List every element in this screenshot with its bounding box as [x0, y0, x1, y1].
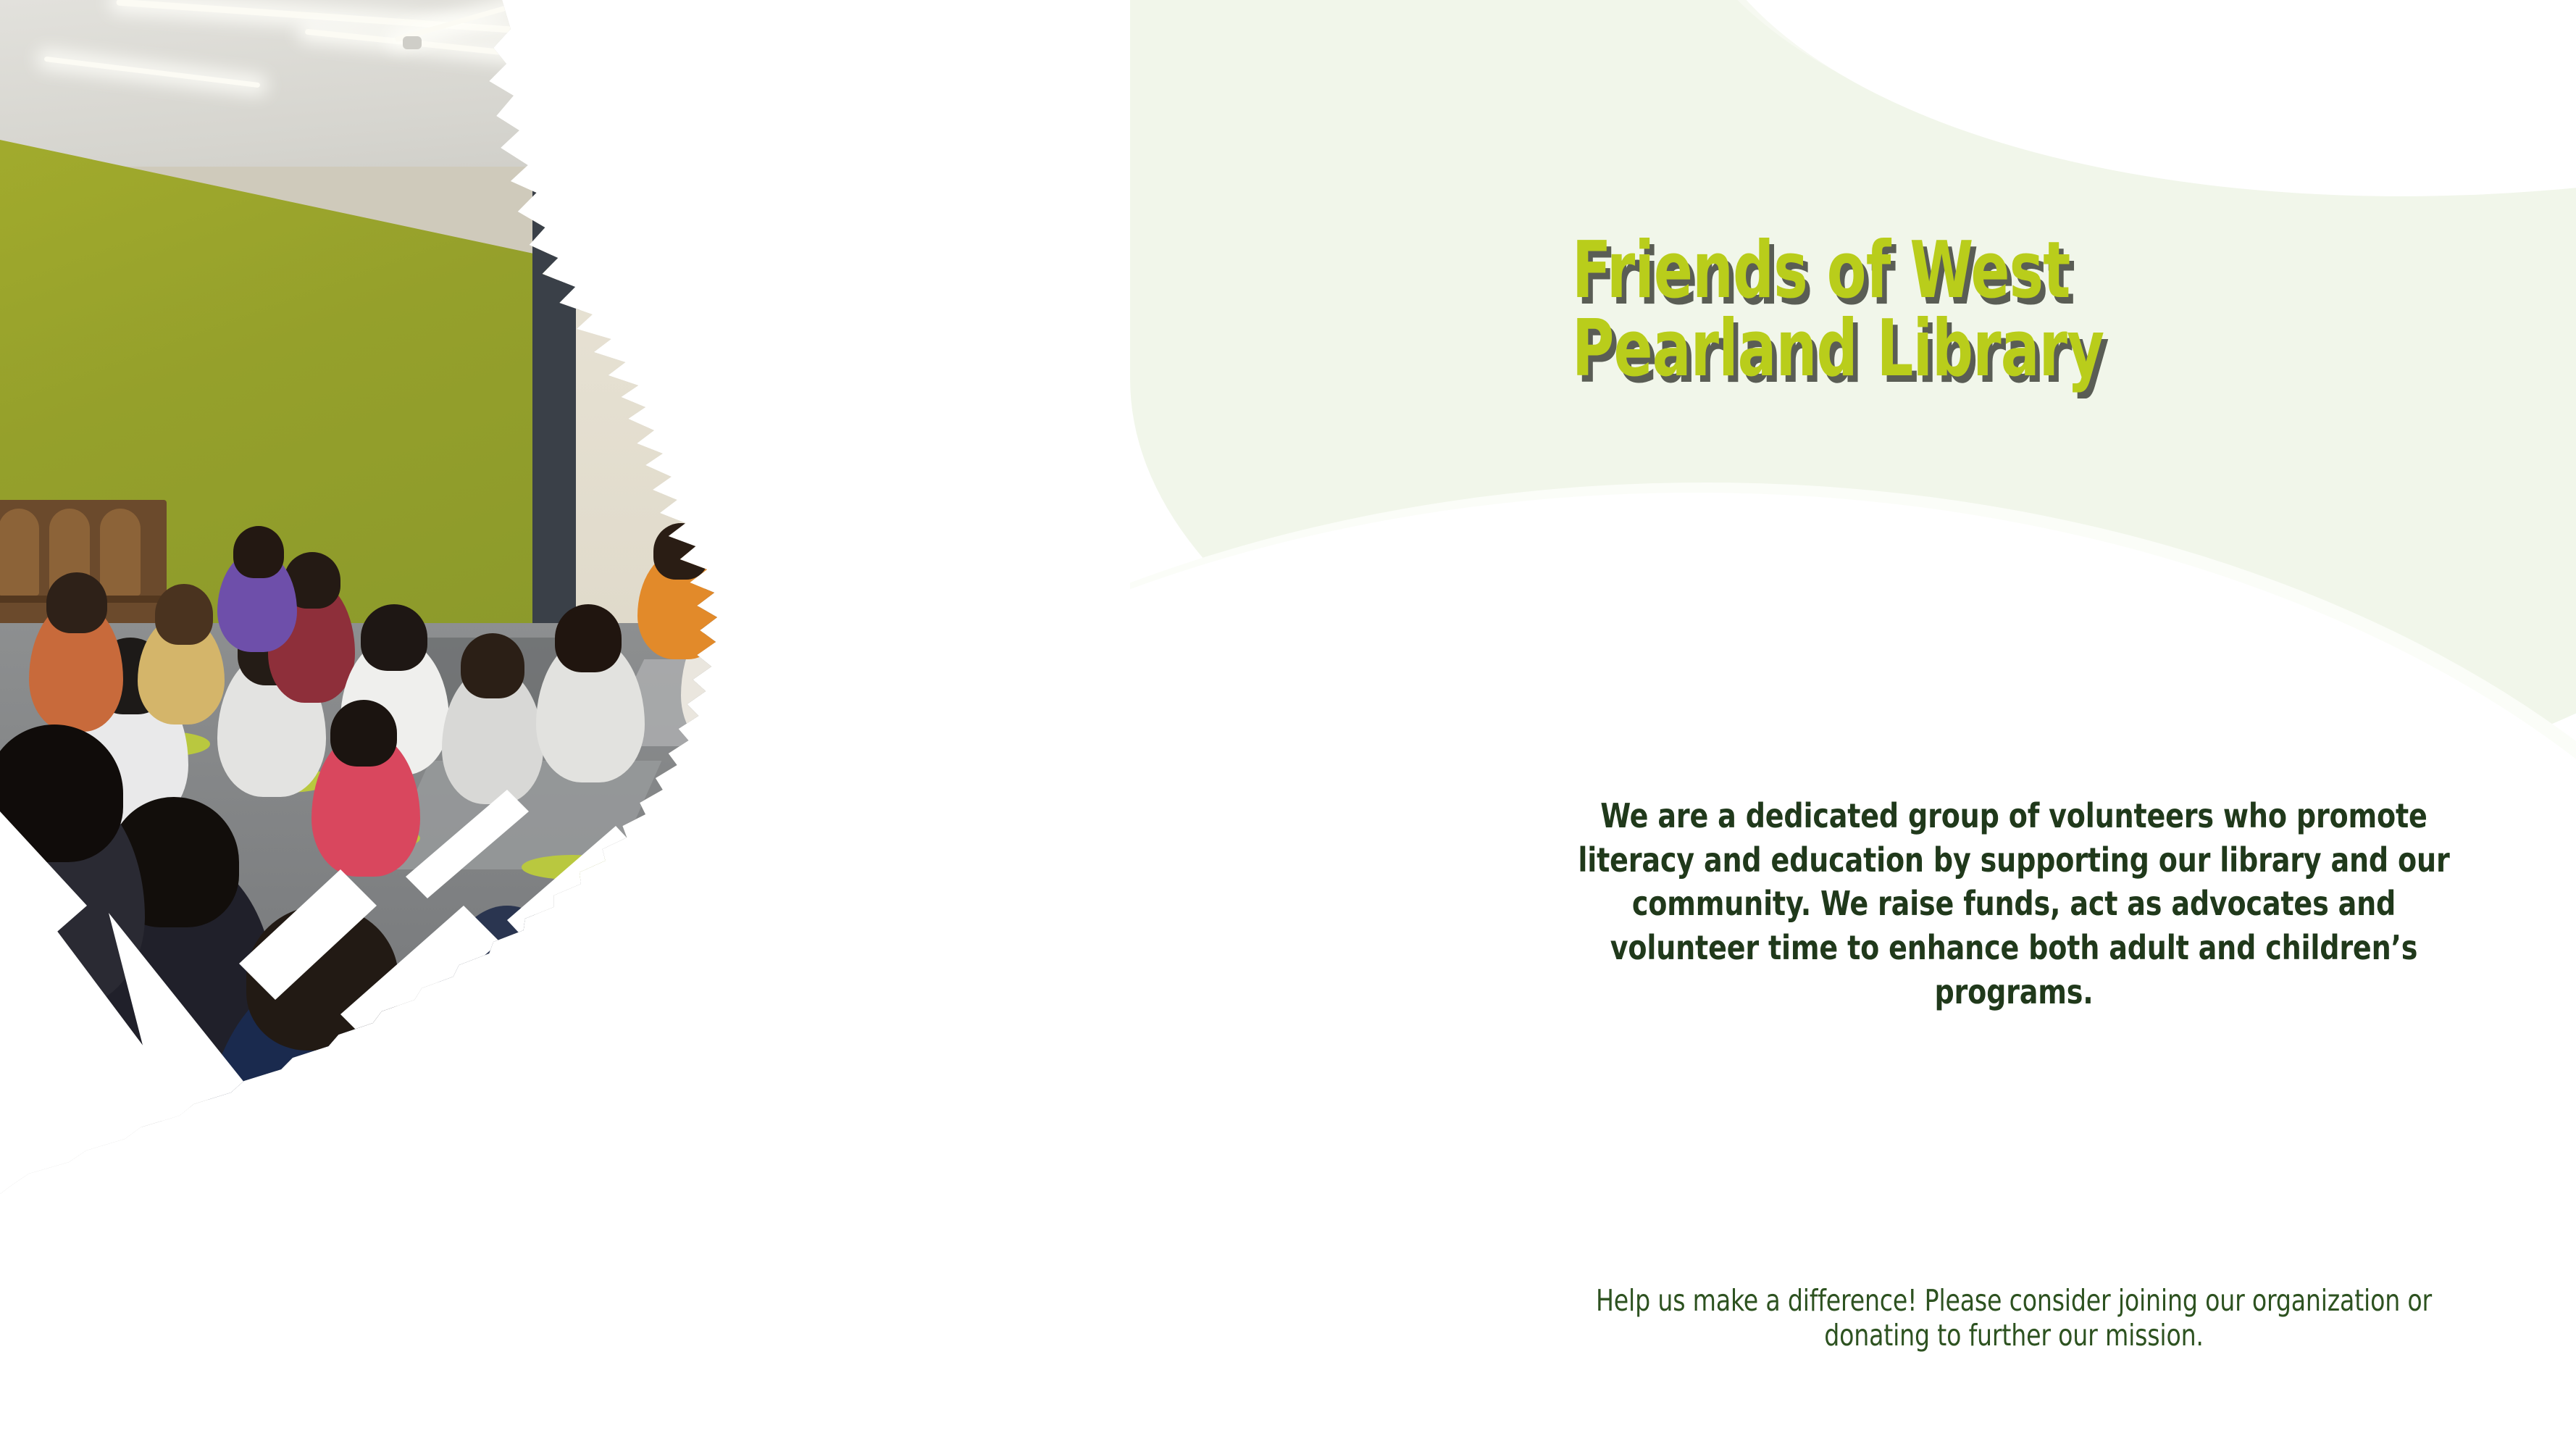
- page-title: Friends of West Pearland Library: [1572, 232, 2368, 388]
- side-wall: [1231, 203, 1434, 609]
- screen-cloud-shape: [1047, 333, 1308, 477]
- screen-text: Time For a Book!: [1028, 346, 1332, 419]
- call-to-action-text: Help us make a difference! Please consid…: [1584, 1283, 2444, 1353]
- screen-tree: [1021, 419, 1083, 499]
- presenter-face-mask: [910, 454, 937, 471]
- audience-hair: [233, 526, 284, 578]
- carpet-tile: [659, 797, 921, 906]
- audience-member: [1203, 638, 1282, 746]
- seat-cushion: [522, 855, 623, 880]
- audience-hair: [555, 604, 622, 672]
- wall-column: [532, 109, 576, 645]
- laptop-base: [1150, 584, 1250, 591]
- storytime-photo-container: Time For a Book!: [0, 0, 1434, 1449]
- storytime-photo: Time For a Book!: [0, 0, 1434, 1449]
- audience-hair: [981, 784, 1034, 839]
- wall-outlet-plate: [1368, 507, 1395, 543]
- audience-hair: [724, 724, 819, 826]
- presenter-hair: [904, 429, 949, 471]
- presenter-book: [852, 487, 919, 541]
- seat-cushion: [768, 869, 862, 894]
- audience-member: [855, 855, 949, 978]
- shelf-arch: [0, 509, 39, 596]
- window-pane: [835, 151, 961, 259]
- screen-background: [1028, 311, 1332, 506]
- audience-hair: [246, 906, 398, 1051]
- window-pane: [973, 133, 1082, 242]
- screen-tree: [1035, 304, 1122, 364]
- audience-hair: [653, 523, 708, 580]
- slide-canvas: Friends of West Pearland Library We are …: [0, 0, 2576, 1449]
- carpet-tile: [811, 696, 1073, 797]
- presentation-screen: Time For a Book!: [1021, 304, 1339, 513]
- audience-hair: [698, 574, 768, 645]
- ceiling: [0, 0, 1434, 167]
- audience-hair: [46, 572, 107, 633]
- clerestory-window-band: [558, 94, 1079, 312]
- presenter-skirt: [898, 558, 952, 667]
- table-leg: [1334, 588, 1341, 711]
- audience-member: [869, 724, 978, 855]
- floor-rug: [1050, 855, 1399, 964]
- presenter-head: [908, 435, 945, 477]
- audience-hair: [155, 584, 213, 645]
- presenter-blazer: [892, 471, 959, 572]
- audience-hair: [330, 700, 397, 767]
- mission-statement: We are a dedicated group of volunteers w…: [1554, 794, 2474, 1014]
- audience-member: [1043, 710, 1188, 913]
- carpet-tile: [485, 913, 790, 1036]
- audience-member: [695, 768, 862, 985]
- carpet-tile: [933, 782, 1212, 898]
- screen-tree: [1224, 304, 1325, 364]
- shelf-arch: [100, 509, 141, 596]
- laptop: [1156, 542, 1242, 587]
- wall-switch-plate: [1108, 500, 1130, 532]
- audience-hair: [461, 633, 524, 698]
- audience-hair: [813, 593, 885, 668]
- carpet-tile: [282, 1029, 616, 1166]
- table-prop: [1243, 551, 1285, 588]
- backpack: [927, 956, 1021, 1087]
- ceiling-vent: [403, 36, 422, 49]
- table-prop: [1239, 540, 1263, 559]
- presenter-table: [1036, 580, 1347, 590]
- audience-hair: [1218, 610, 1271, 664]
- window-pane: [700, 168, 823, 275]
- audience-member: [963, 811, 1050, 920]
- carpet-tile: [831, 942, 1139, 1072]
- window-pane: [580, 185, 688, 286]
- audience-hair: [1065, 665, 1162, 774]
- table-leg: [1046, 588, 1053, 711]
- audience-hair: [871, 823, 932, 885]
- audience-member: [790, 630, 913, 790]
- audience-hair: [361, 604, 427, 671]
